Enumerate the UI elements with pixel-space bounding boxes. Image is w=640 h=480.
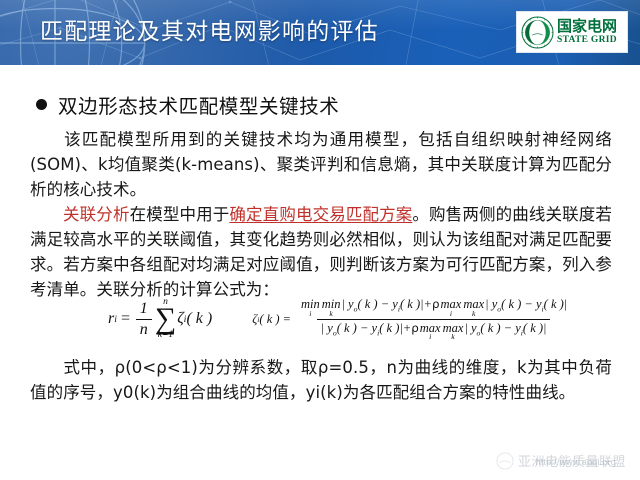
filled-circle-bullet-icon bbox=[36, 99, 47, 110]
denominator-abs-mid: ( k ) − y bbox=[337, 321, 377, 335]
numerator-min-i-index: i bbox=[309, 310, 311, 318]
formula-r-lhs-argument: ( k ) bbox=[259, 312, 279, 327]
slide-header-banner: 匹配理论及其对电网影响的评估 国家电网 STATE GRID bbox=[0, 0, 640, 65]
denominator-abs2-mid: ( k ) − y bbox=[480, 321, 520, 335]
denominator-max-i-index: i bbox=[429, 333, 431, 341]
formula-frac-numerator: 1 bbox=[136, 300, 152, 319]
denominator-plus: + bbox=[403, 321, 411, 335]
formula-zeta-argument: ( k ) bbox=[186, 310, 212, 328]
watermark-url: http://www.apqi.org bbox=[536, 457, 616, 467]
formula-r-fraction: minimink| yo( k ) − yi( k )|+ρmaximaxk| … bbox=[296, 297, 571, 341]
numerator-rho: ρ bbox=[432, 297, 440, 311]
formula-equals: = bbox=[120, 310, 131, 328]
denominator-max-k-index: k bbox=[451, 333, 454, 341]
formula-one-over-n: 1 n bbox=[136, 300, 152, 339]
state-grid-globe-icon bbox=[521, 16, 554, 49]
numerator-abs2-open: | y bbox=[485, 297, 497, 311]
state-grid-logo-text: 国家电网 STATE GRID bbox=[557, 19, 617, 46]
section-heading: 双边形态技术匹配模型关键技术 bbox=[36, 90, 339, 119]
denominator-abs2-open: | y bbox=[464, 321, 476, 335]
summation-sigma-icon: ∑ bbox=[155, 307, 176, 331]
formula-row: ri = 1 n n ∑ k=1 ζi( k ) ζi( k )= minimi… bbox=[30, 290, 612, 348]
formula-sum-lower-limit: k=1 bbox=[158, 331, 173, 341]
paragraph-three: 式中，ρ(0<ρ<1)为分辨系数，取ρ=0.5，n为曲线的维度，k为其中负荷值的… bbox=[30, 355, 612, 405]
numerator-max-k: maxk bbox=[463, 298, 484, 317]
formula-r-numerator: minimink| yo( k ) − yi( k )|+ρmaximaxk| … bbox=[296, 297, 571, 318]
formula-lhs-subscript: i bbox=[114, 314, 117, 325]
numerator-min-k-index: k bbox=[329, 310, 332, 318]
denominator-abs-close: ( k )| bbox=[379, 321, 403, 335]
denominator-rho: ρ bbox=[411, 321, 419, 335]
numerator-abs-open: | y bbox=[341, 297, 353, 311]
numerator-max-k-index: k bbox=[472, 310, 475, 318]
paragraph-one: 该匹配模型所用到的关键技术均为通用模型，包括自组织映射神经网络(SOM)、k均值… bbox=[30, 127, 612, 202]
numerator-min-i: mini bbox=[301, 298, 320, 317]
numerator-max-i-index: i bbox=[450, 310, 452, 318]
paragraph-two: 关联分析在模型中用于确定直购电交易匹配方案。购售两侧的曲线关联度若满足较高水平的… bbox=[30, 202, 612, 302]
numerator-abs2-close: ( k )| bbox=[544, 297, 568, 311]
denominator-abs-open: | y bbox=[321, 321, 333, 335]
formula-summation: n ∑ k=1 bbox=[154, 298, 177, 341]
highlight-correlation-analysis: 关联分析 bbox=[63, 205, 130, 224]
state-grid-logo: 国家电网 STATE GRID bbox=[516, 11, 628, 53]
section-heading-label: 双边形态技术匹配模型关键技术 bbox=[58, 90, 339, 119]
page-title: 匹配理论及其对电网影响的评估 bbox=[40, 17, 379, 47]
paragraph-three-text: 式中，ρ(0<ρ<1)为分辨系数，取ρ=0.5，n为曲线的维度，k为其中负荷值的… bbox=[30, 358, 612, 402]
denominator-abs2-close: ( k )| bbox=[523, 321, 547, 335]
numerator-plus: + bbox=[424, 297, 432, 311]
formula-frac-denominator: n bbox=[136, 319, 152, 339]
formula-correlation-coefficient: ζi( k )= minimink| yo( k ) − yi( k )|+ρm… bbox=[252, 297, 573, 341]
numerator-abs-mid: ( k ) − y bbox=[357, 297, 397, 311]
alliance-seal-icon bbox=[496, 452, 514, 470]
paragraph-two-mid: 在模型中用于 bbox=[130, 205, 230, 224]
highlight-underlined-scheme: 确定直购电交易匹配方案 bbox=[229, 205, 412, 224]
numerator-abs-close: ( k )| bbox=[400, 297, 424, 311]
denominator-max-k: maxk bbox=[443, 322, 464, 341]
state-grid-logo-chinese: 国家电网 bbox=[557, 19, 617, 34]
formula-r-equals: = bbox=[283, 312, 291, 327]
formula-r-denominator: | yo( k ) − yi( k )|+ρmaximaxk| yo( k ) … bbox=[317, 319, 551, 341]
denominator-max-i: maxi bbox=[420, 322, 441, 341]
state-grid-logo-english: STATE GRID bbox=[557, 36, 617, 46]
numerator-abs2-mid: ( k ) − y bbox=[501, 297, 541, 311]
paragraph-one-text: 该匹配模型所用到的关键技术均为通用模型，包括自组织映射神经网络(SOM)、k均值… bbox=[30, 130, 612, 199]
formula-mean-correlation: ri = 1 n n ∑ k=1 ζi( k ) bbox=[108, 298, 212, 341]
slide-body: 双边形态技术匹配模型关键技术 该匹配模型所用到的关键技术均为通用模型，包括自组织… bbox=[0, 65, 640, 480]
numerator-max-i: maxi bbox=[441, 298, 462, 317]
numerator-min-k: mink bbox=[322, 298, 341, 317]
